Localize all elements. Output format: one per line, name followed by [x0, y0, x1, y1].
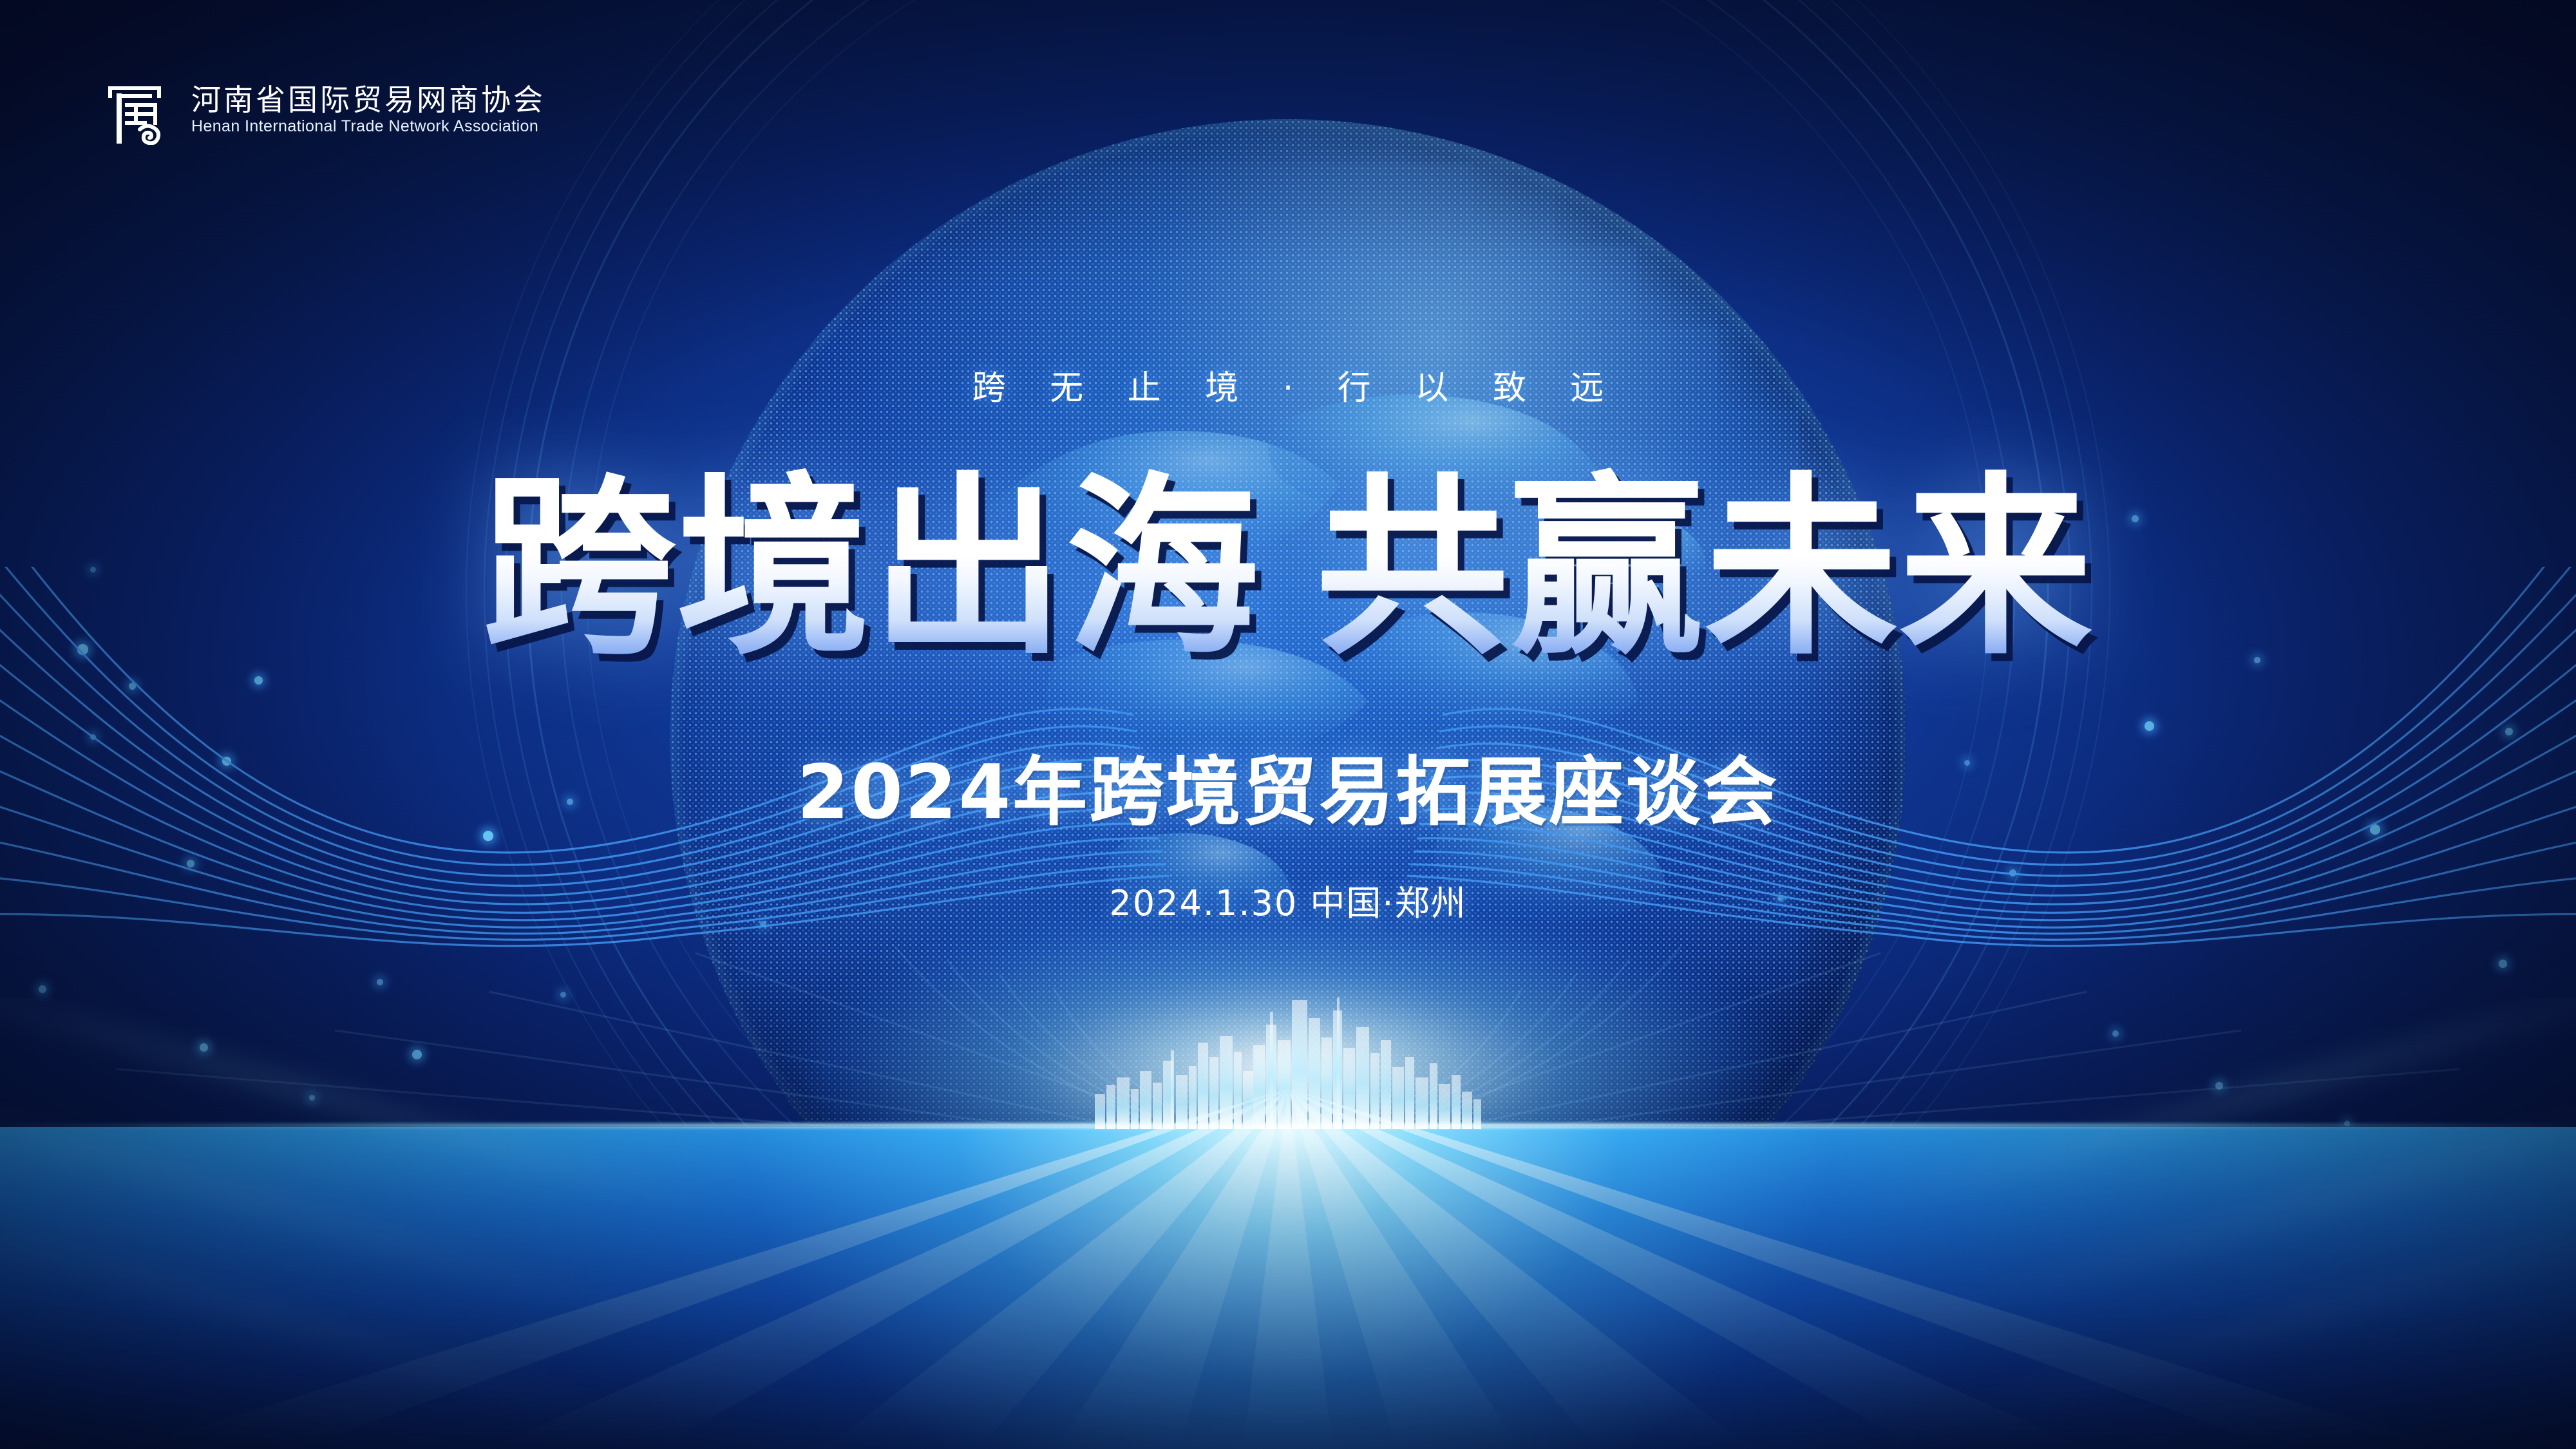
henan-trade-seal-logo-icon	[100, 74, 169, 145]
event-tagline: 跨 无 止 境 · 行 以 致 远	[0, 361, 2576, 409]
brand-logo[interactable]: 河南省国际贸易网商协会 Henan International Trade Ne…	[100, 74, 545, 145]
brand-name-en: Henan International Trade Network Associ…	[191, 118, 545, 135]
headline-segment-left: 跨境出海	[482, 451, 1260, 687]
event-subtitle: 2024年跨境贸易拓展座谈会	[0, 752, 2576, 833]
event-headline: 跨境出海共赢未来	[0, 451, 2576, 687]
brand-name-cn: 河南省国际贸易网商协会	[191, 85, 545, 115]
event-banner: 河南省国际贸易网商协会 Henan International Trade Ne…	[0, 0, 2576, 1449]
headline-segment-right: 共赢未来	[1316, 451, 2094, 687]
event-date-location: 2024.1.30 中国·郑州	[0, 875, 2576, 925]
ground-plane	[0, 1127, 2576, 1449]
light-rays-lower	[0, 1088, 2576, 1449]
horizon-line	[0, 1123, 2576, 1128]
